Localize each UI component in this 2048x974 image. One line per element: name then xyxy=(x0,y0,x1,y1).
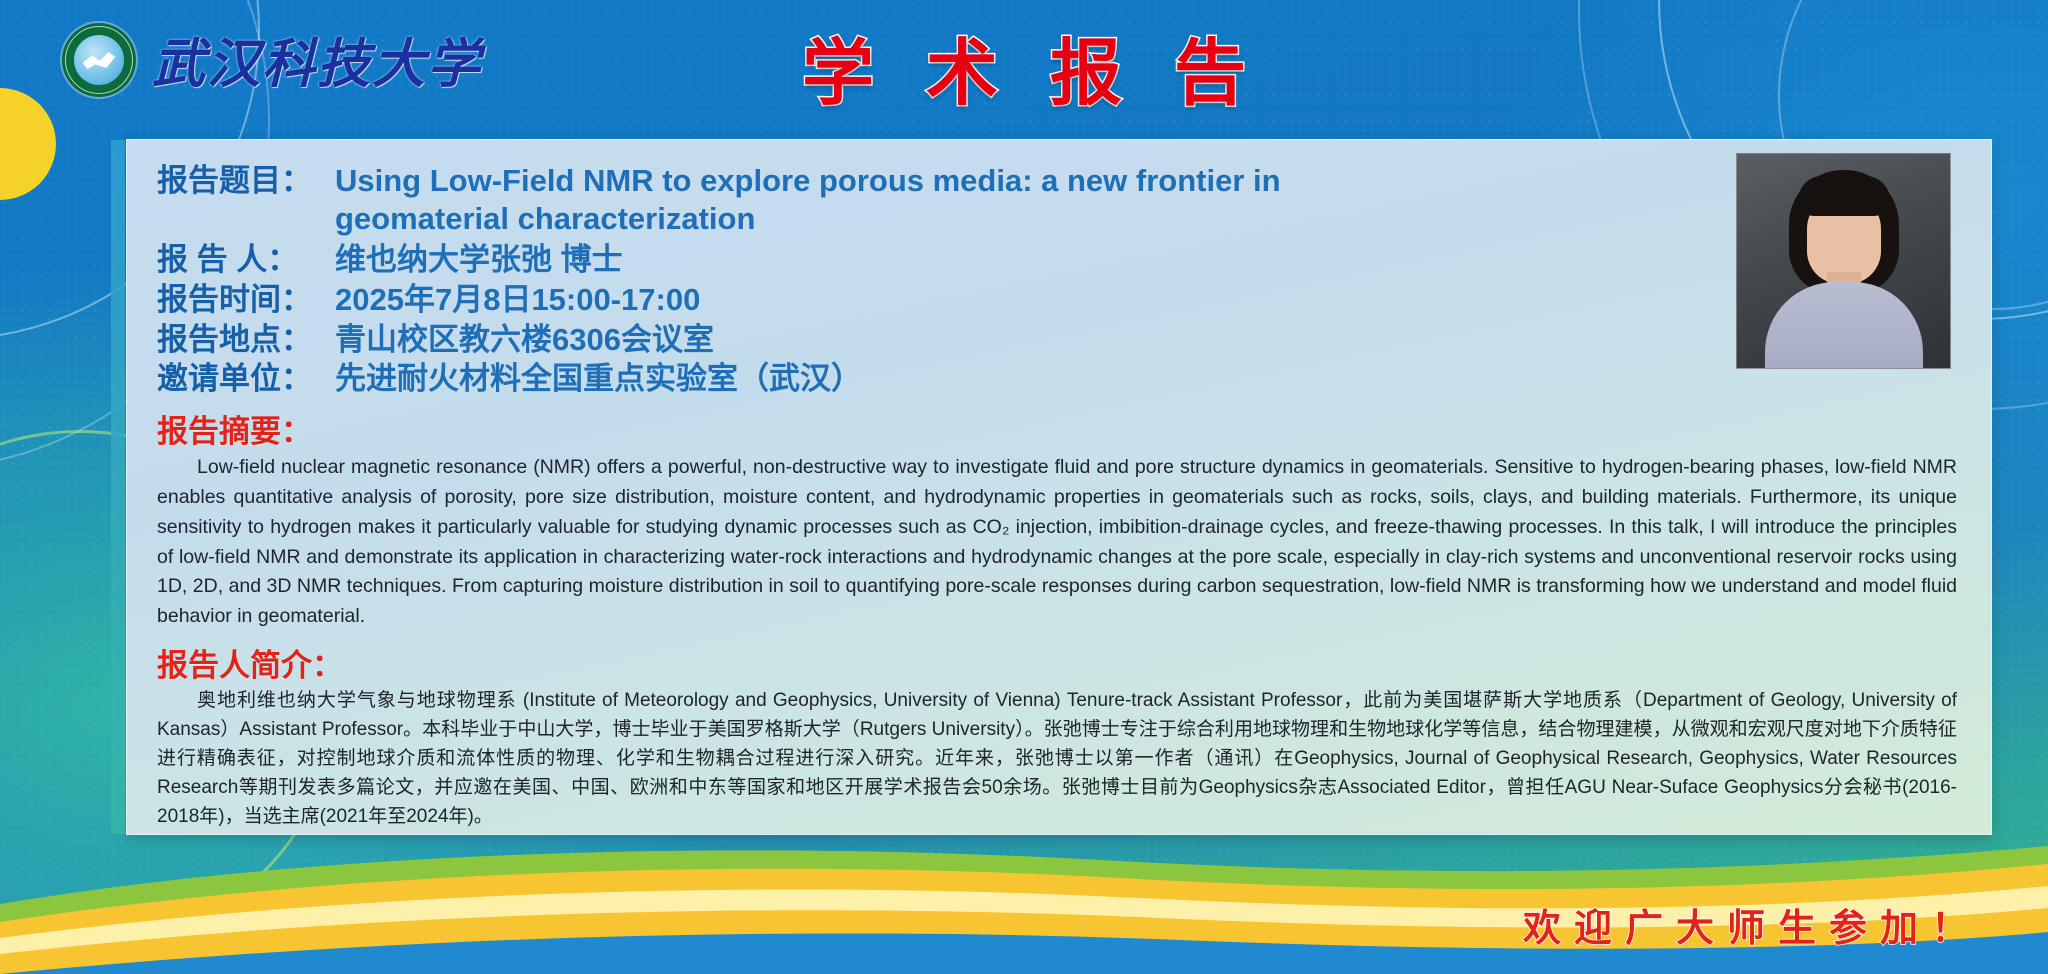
info-label: 报 告 人： xyxy=(157,241,335,279)
bio-text: 奥地利维也纳大学气象与地球物理系 (Institute of Meteorolo… xyxy=(157,687,1957,831)
info-label: 报告时间： xyxy=(157,281,335,319)
info-row-host: 邀请单位： 先进耐火材料全国重点实验室（武汉） xyxy=(157,360,1961,398)
info-value-speaker: 维也纳大学张弛 博士 xyxy=(335,241,623,279)
info-value-title: Using Low-Field NMR to explore porous me… xyxy=(335,162,1455,239)
poster-header: 武汉科技大学 学术报告 xyxy=(0,0,2048,128)
info-label: 邀请单位： xyxy=(157,360,335,398)
info-value-host: 先进耐火材料全国重点实验室（武汉） xyxy=(335,360,862,398)
abstract-text: Low-field nuclear magnetic resonance (NM… xyxy=(157,453,1957,632)
page-title: 学术报告 xyxy=(0,14,2048,119)
abstract-heading: 报告摘要： xyxy=(157,406,1961,451)
info-label: 报告题目： xyxy=(157,162,335,200)
portrait-fringe xyxy=(1798,176,1890,216)
bio-heading: 报告人简介： xyxy=(157,640,1961,685)
info-row-speaker: 报 告 人： 维也纳大学张弛 博士 xyxy=(157,241,1961,279)
announcement-card: 报告题目： Using Low-Field NMR to explore por… xyxy=(126,139,1992,835)
info-row-title: 报告题目： Using Low-Field NMR to explore por… xyxy=(157,162,1961,239)
info-label: 报告地点： xyxy=(157,321,335,359)
bottom-ribbon: 欢迎广大师生参加！ xyxy=(0,834,2048,974)
portrait-body xyxy=(1765,282,1923,368)
info-row-location: 报告地点： 青山校区教六楼6306会议室 xyxy=(157,321,1961,359)
info-row-time: 报告时间： 2025年7月8日15:00-17:00 xyxy=(157,281,1961,319)
welcome-text: 欢迎广大师生参加！ xyxy=(1523,897,1982,952)
info-value-time: 2025年7月8日15:00-17:00 xyxy=(335,281,700,319)
poster-root: 武汉科技大学 学术报告 报告题目： Using Low-Field NMR to… xyxy=(0,0,2048,974)
speaker-photo xyxy=(1736,153,1951,369)
info-value-location: 青山校区教六楼6306会议室 xyxy=(335,321,714,359)
